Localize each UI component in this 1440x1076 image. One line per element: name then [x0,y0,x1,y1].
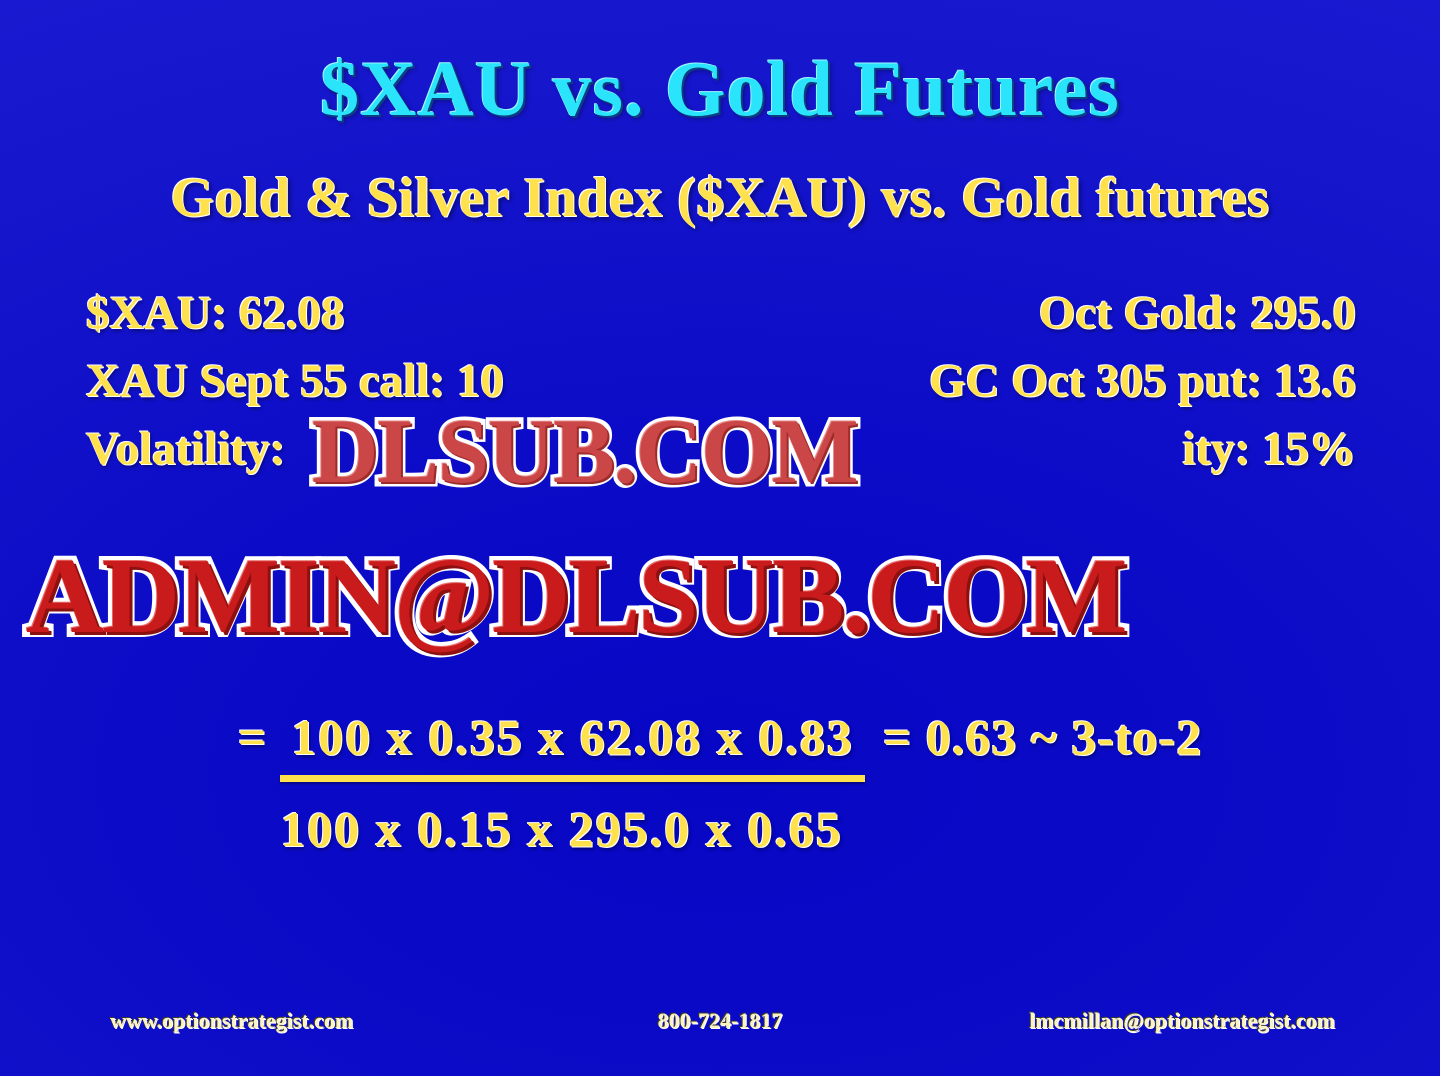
data-row: $XAU: 62.08 Oct Gold: 295.0 [80,279,1360,347]
page-subtitle: Gold & Silver Index ($XAU) vs. Gold futu… [0,166,1440,230]
xau-volatility-label: Volatility: [86,415,285,483]
quote-data-grid: $XAU: 62.08 Oct Gold: 295.0 XAU Sept 55 … [80,279,1360,483]
formula-equals-sign: = [238,706,267,768]
formula-result: = 0.63 ~ 3-to-2 [883,706,1202,768]
footer-email-link[interactable]: lmcmillan@optionstrategist.com [1029,1008,1335,1034]
footer-website-link[interactable]: www.optionstrategist.com [110,1008,353,1034]
xau-price-label: $XAU: 62.08 [86,279,344,347]
hedge-ratio-formula: = 100 x 0.35 x 62.08 x 0.83 100 x 0.15 x… [0,706,1440,860]
gc-put-option-label: GC Oct 305 put: 13.6 [929,347,1356,415]
slide-canvas: $XAU vs. Gold Futures Gold & Silver Inde… [0,0,1440,1076]
watermark-email-outline: ADMIN@DLSUB.COM [26,535,1125,659]
gold-volatility-label: ity: 15% [1182,415,1356,483]
watermark-email: ADMIN@DLSUB.COM [26,535,1125,659]
page-title: $XAU vs. Gold Futures [0,44,1440,134]
footer-phone-number: 800-724-1817 [658,1008,783,1034]
xau-call-option-label: XAU Sept 55 call: 10 [86,347,504,415]
data-row: Volatility: ity: 15% [80,415,1360,483]
formula-numerator: 100 x 0.35 x 62.08 x 0.83 [291,709,854,765]
fraction-bar [280,775,865,782]
data-row: XAU Sept 55 call: 10 GC Oct 305 put: 13.… [80,347,1360,415]
formula-fraction: 100 x 0.35 x 62.08 x 0.83 100 x 0.15 x 2… [280,706,865,860]
slide-footer: www.optionstrategist.com 800-724-1817 lm… [0,1008,1440,1038]
formula-denominator: 100 x 0.15 x 295.0 x 0.65 [280,801,865,857]
oct-gold-price-label: Oct Gold: 295.0 [1039,279,1356,347]
